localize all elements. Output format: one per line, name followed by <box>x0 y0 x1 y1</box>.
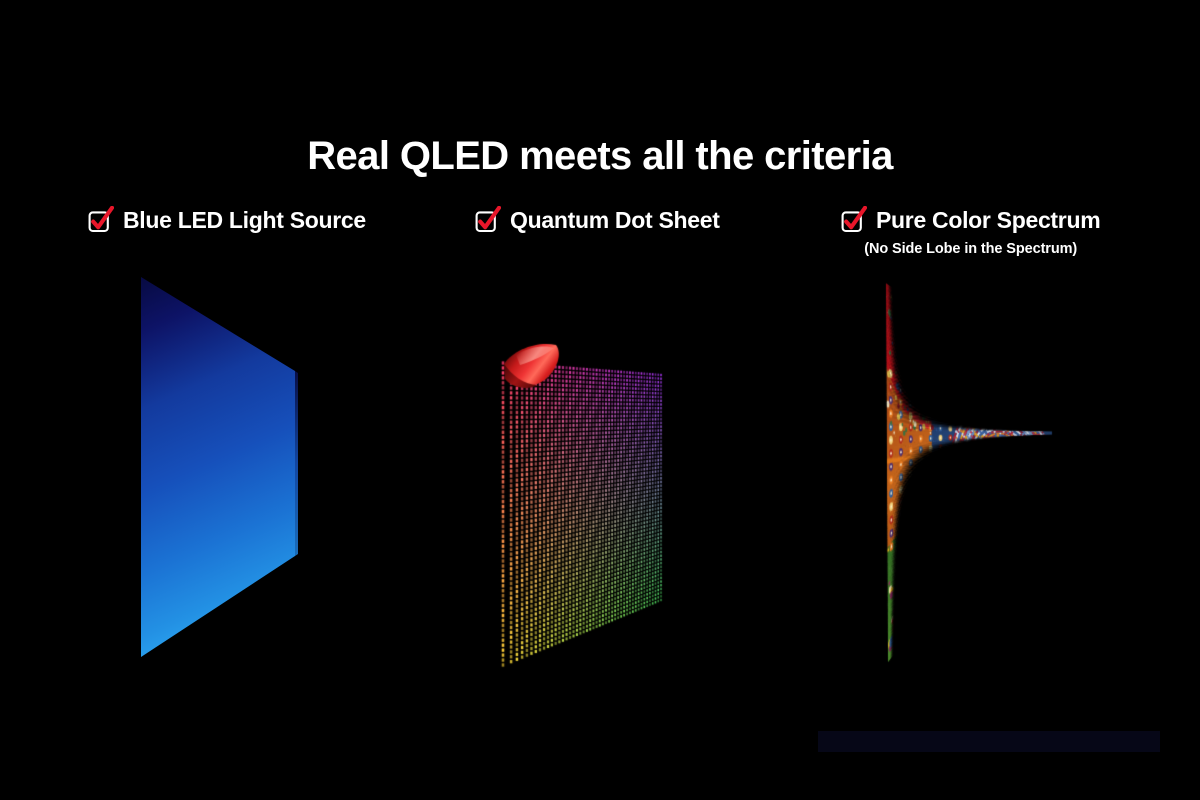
checked-checkbox-icon <box>88 206 114 234</box>
checked-checkbox-icon <box>475 206 501 234</box>
bottom-glow-bar <box>818 731 1160 752</box>
mandala-tapestry-image <box>866 268 1076 678</box>
criterion-quantum-dot-sheet: Quantum Dot Sheet <box>475 206 720 234</box>
quantum-dot-sheet-illustration <box>488 305 708 685</box>
criterion-row: Quantum Dot Sheet <box>475 206 720 234</box>
criterion-label: Quantum Dot Sheet <box>510 209 720 232</box>
criterion-label: Blue LED Light Source <box>123 209 366 232</box>
criterion-pure-color-spectrum: Pure Color Spectrum (No Side Lobe in the… <box>841 206 1100 257</box>
slide-canvas: Real QLED meets all the criteria Blue LE… <box>0 0 1200 800</box>
blue-led-light-source-illustration <box>120 260 320 680</box>
criterion-subtitle: (No Side Lobe in the Spectrum) <box>864 241 1077 257</box>
criterion-label: Pure Color Spectrum <box>876 209 1100 232</box>
page-title: Real QLED meets all the criteria <box>0 134 1200 178</box>
criterion-row: Pure Color Spectrum <box>841 206 1100 234</box>
checked-checkbox-icon <box>841 206 867 234</box>
criterion-row: Blue LED Light Source <box>88 206 366 234</box>
criterion-blue-led-light-source: Blue LED Light Source <box>88 206 366 234</box>
pure-color-spectrum-illustration <box>866 268 1076 678</box>
quantum-dot-grid <box>488 305 708 685</box>
